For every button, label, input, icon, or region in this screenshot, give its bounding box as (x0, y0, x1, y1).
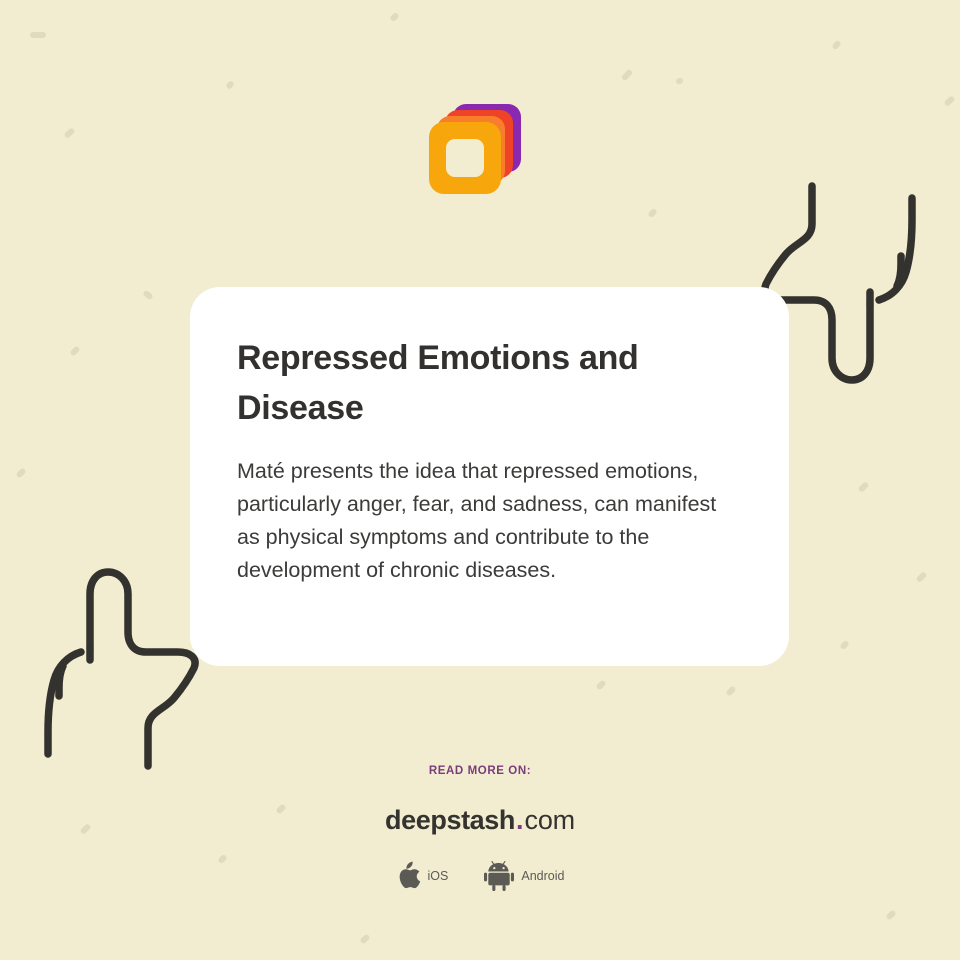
brand-dot: . (515, 805, 525, 835)
android-store-label: Android (521, 869, 564, 883)
android-icon (484, 861, 514, 891)
speck (647, 208, 658, 219)
card-body-text: Maté presents the idea that repressed em… (237, 455, 741, 587)
brand-wordmark[interactable]: deepstash.com (0, 807, 960, 834)
speck (916, 571, 928, 583)
logo-center-hole (446, 139, 484, 177)
speck (943, 95, 955, 107)
speck (885, 909, 896, 920)
ios-store-badge[interactable]: iOS (396, 861, 449, 891)
speck (831, 40, 841, 51)
read-more-label: READ MORE ON: (0, 765, 960, 777)
footer: READ MORE ON: deepstash.com iOS (0, 765, 960, 891)
ios-store-label: iOS (428, 869, 449, 883)
speck (839, 640, 850, 651)
app-store-badges: iOS Android (0, 861, 960, 891)
speck (225, 80, 235, 90)
idea-card: Repressed Emotions and Disease Maté pres… (190, 287, 789, 666)
brand-name: deepstash (385, 805, 515, 835)
speck (621, 69, 633, 82)
brand-tld: com (525, 805, 575, 835)
speck (30, 32, 46, 38)
speck (69, 345, 80, 356)
apple-icon (396, 861, 421, 891)
android-store-badge[interactable]: Android (484, 861, 564, 891)
speck (675, 77, 684, 85)
speck (725, 685, 736, 696)
speck (63, 127, 75, 139)
speck (142, 290, 154, 301)
speck (359, 933, 370, 944)
pointing-hand-up-icon (28, 564, 208, 776)
poster-canvas: Repressed Emotions and Disease Maté pres… (0, 0, 960, 960)
speck (595, 679, 606, 690)
speck (15, 467, 26, 478)
card-title: Repressed Emotions and Disease (237, 333, 707, 433)
speck (389, 12, 400, 22)
deepstash-logo[interactable] (425, 100, 525, 200)
speck (857, 481, 869, 493)
